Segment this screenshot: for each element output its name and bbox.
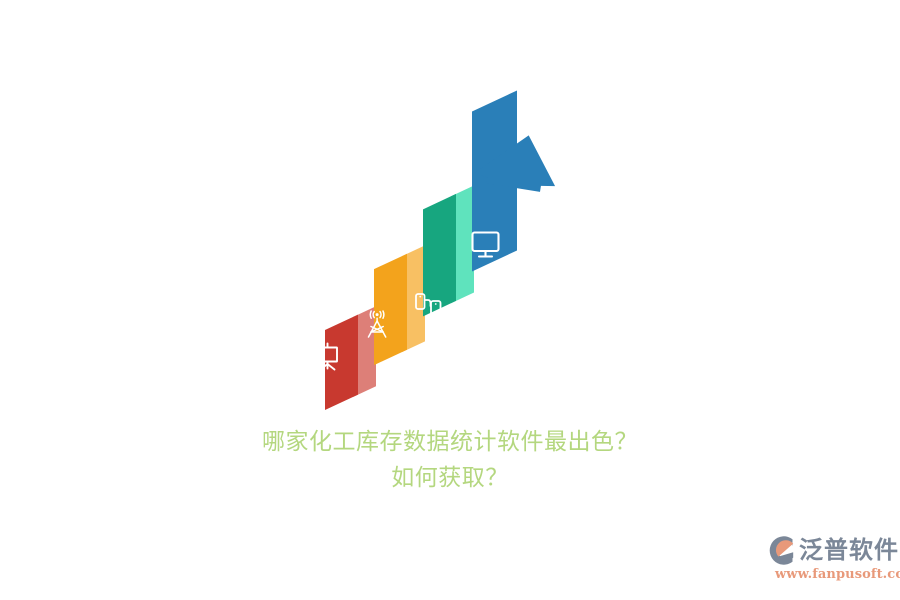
brand-url[interactable]: www.fanpusoft.com xyxy=(775,567,894,582)
block-teal-face xyxy=(423,194,456,316)
block-red xyxy=(325,306,376,410)
block-orange xyxy=(374,245,425,365)
block-orange-face xyxy=(374,254,407,365)
brand-name: 泛普软件 xyxy=(799,535,899,566)
growth-arrow-graphic xyxy=(280,125,580,430)
page-title: 哪家化工库存数据统计软件最出色？ 如何获取？ xyxy=(0,424,900,496)
page-title-line-2: 如何获取？ xyxy=(0,460,900,496)
block-teal xyxy=(423,186,474,317)
page-title-line-1: 哪家化工库存数据统计软件最出色？ xyxy=(0,424,900,460)
brand-row: 泛普软件 xyxy=(766,534,894,566)
brand-logo[interactable]: 泛普软件 www.fanpusoft.com xyxy=(766,534,894,584)
block-blue-arrow xyxy=(472,90,562,271)
page-root: 哪家化工库存数据统计软件最出色？ 如何获取？ 泛普软件 www.fanpusof… xyxy=(0,0,900,600)
fanpu-logo-icon xyxy=(766,535,797,566)
